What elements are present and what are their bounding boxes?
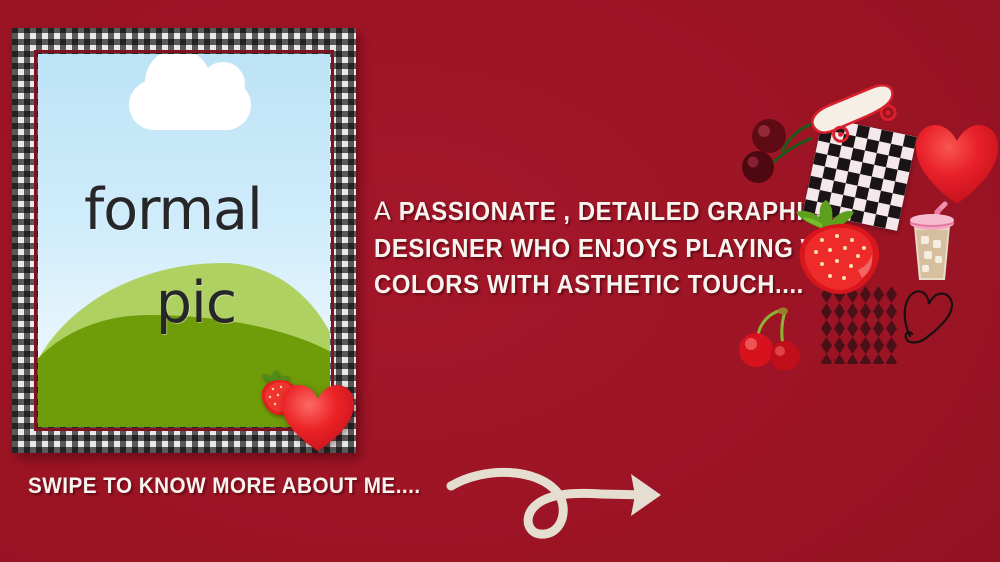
cloud-icon [129,80,251,130]
bio-lead-letter: A [374,195,392,228]
bio-line-2: DESIGNER WHO ENJOYS PLAYING WITH [374,230,779,266]
bio-line-1: A PASSIONATE , DETAILED GRAPHIC [374,193,779,230]
strawberry-icon [792,198,888,296]
bio-line-3-text: COLORS WITH ASTHETIC TOUCH.... [374,269,804,299]
bio-text-block: A PASSIONATE , DETAILED GRAPHIC DESIGNER… [374,193,814,302]
heart-icon [913,122,1000,206]
bio-line-3: COLORS WITH ASTHETIC TOUCH.... [374,266,779,302]
profile-banner-canvas: formal pic A PASSIONATE , DETAILED GRAPH… [0,0,1000,562]
bio-line-2-text: DESIGNER WHO ENJOYS PLAYING WITH [374,233,864,263]
curly-right-arrow-icon [445,452,685,540]
argyle-diamonds-icon [820,286,898,364]
cherries-icon [736,306,812,370]
iced-coffee-cup-icon [905,196,959,282]
heart-icon [280,383,356,453]
bio-line-1-text: PASSIONATE , DETAILED GRAPHIC [392,196,822,226]
photo-placeholder-line2: pic [38,270,330,336]
heart-outline-icon [898,286,956,348]
cherries-icon [742,112,814,188]
photo-placeholder-line1: formal [38,177,330,243]
swipe-cta-label: SWIPE TO KNOW MORE ABOUT ME.... [28,473,421,499]
